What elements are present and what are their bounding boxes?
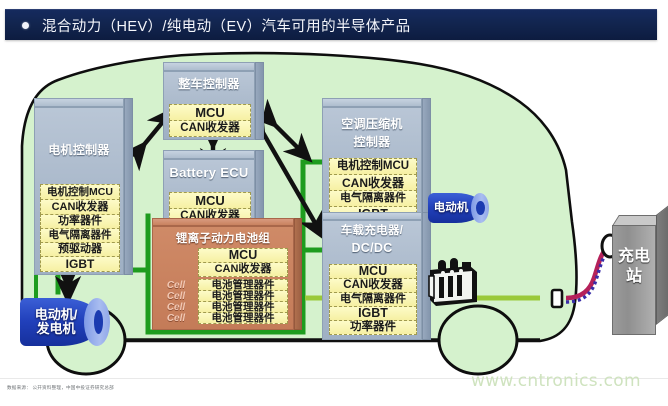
chip-item: 电气隔离器件 (329, 292, 417, 307)
page-title: 混合动力（HEV）/纯电动（EV）汽车可用的半导体产品 (42, 15, 410, 36)
li-ion-battery-pack[interactable]: 锂离子动力电池组 MCU CAN收发器 Cell Cell Cell Cell … (152, 218, 294, 330)
chip-item: MCU (198, 248, 288, 263)
bms-chip-list: 电池管理器件 电池管理器件 电池管理器件 电池管理器件 (198, 279, 288, 323)
motor-label: 电动机 (428, 193, 484, 223)
chip-list: MCU CAN收发器 电气隔离器件 IGBT 功率器件 (329, 264, 417, 334)
header-bar: 混合动力（HEV）/纯电动（EV）汽车可用的半导体产品 (5, 9, 657, 40)
chip-item: CAN收发器 (198, 262, 288, 277)
cell-label: Cell (158, 313, 194, 324)
motor-label: 电动机/ 发电机 (20, 298, 102, 346)
chip-item: IGBT (329, 306, 417, 321)
module-top-face (322, 98, 422, 107)
vehicle-diagram: 电机控制器 电机控制MCU CAN收发器 功率器件 电气隔离器件 预驱动器 IG… (0, 40, 668, 380)
chip-item: CAN收发器 (40, 199, 120, 215)
cell-label: Cell (158, 302, 194, 313)
module-side-face (255, 62, 264, 140)
chip-item: 电池管理器件 (198, 312, 288, 324)
station-label: 充电站 (612, 247, 656, 288)
module-motor-controller[interactable]: 电机控制器 电机控制MCU CAN收发器 功率器件 电气隔离器件 预驱动器 IG… (34, 98, 124, 275)
module-top-face (163, 62, 255, 71)
traction-motor[interactable]: 电动机 (428, 193, 484, 223)
module-top-face (322, 212, 422, 220)
watermark: www.cntronics.com (471, 371, 641, 391)
chip-item: IGBT (40, 256, 120, 272)
charging-station[interactable]: 充电站 (612, 215, 668, 340)
chip-list: 电机控制MCU CAN收发器 功率器件 电气隔离器件 预驱动器 IGBT (40, 184, 120, 271)
chip-item: CAN收发器 (169, 120, 251, 137)
chip-item: MCU (329, 264, 417, 279)
lead-acid-battery-icon (424, 252, 484, 310)
motor-generator[interactable]: 电动机/ 发电机 (20, 298, 102, 346)
pack-chip-list: MCU CAN收发器 (198, 248, 288, 276)
chip-list: MCU CAN收发器 (169, 104, 251, 136)
chip-item: MCU (169, 104, 251, 121)
motor-label-line2: 发电机 (36, 322, 75, 336)
chip-item: CAN收发器 (329, 278, 417, 293)
diagram-page: 混合动力（HEV）/纯电动（EV）汽车可用的半导体产品 (0, 0, 668, 406)
cell-column: Cell Cell Cell Cell (158, 280, 194, 324)
chip-item: CAN收发器 (329, 174, 417, 191)
station-side-face (656, 204, 668, 325)
pack-top-face (152, 218, 294, 226)
chip-item: MCU (169, 192, 251, 209)
pack-title: 锂离子动力电池组 (152, 230, 294, 246)
pack-side-face (294, 218, 302, 330)
cell-label: Cell (158, 291, 194, 302)
module-top-face (34, 98, 124, 107)
chip-item: 预驱动器 (40, 242, 120, 257)
module-side-face (124, 98, 133, 275)
module-top-face (163, 150, 255, 159)
chip-item: 电气隔离器件 (329, 190, 417, 207)
chip-item: 电机控制MCU (329, 158, 417, 175)
module-onboard-charger-dcdc[interactable]: 车载充电器/ DC/DC MCU CAN收发器 电气隔离器件 IGBT 功率器件 (322, 212, 422, 340)
motor-label-line1: 电动机/ (35, 308, 78, 322)
source-note: 数据来源： 公开资料整理，中国中投证券研究总部 (7, 385, 114, 391)
chip-item: 电气隔离器件 (40, 228, 120, 243)
chip-item: 功率器件 (329, 320, 417, 335)
chip-item: 功率器件 (40, 214, 120, 229)
chip-item: 电机控制MCU (40, 184, 120, 200)
bullet-dot-icon (22, 22, 29, 29)
module-vehicle-control-unit[interactable]: 整车控制器 MCU CAN收发器 (163, 62, 255, 140)
cell-label: Cell (158, 280, 194, 291)
